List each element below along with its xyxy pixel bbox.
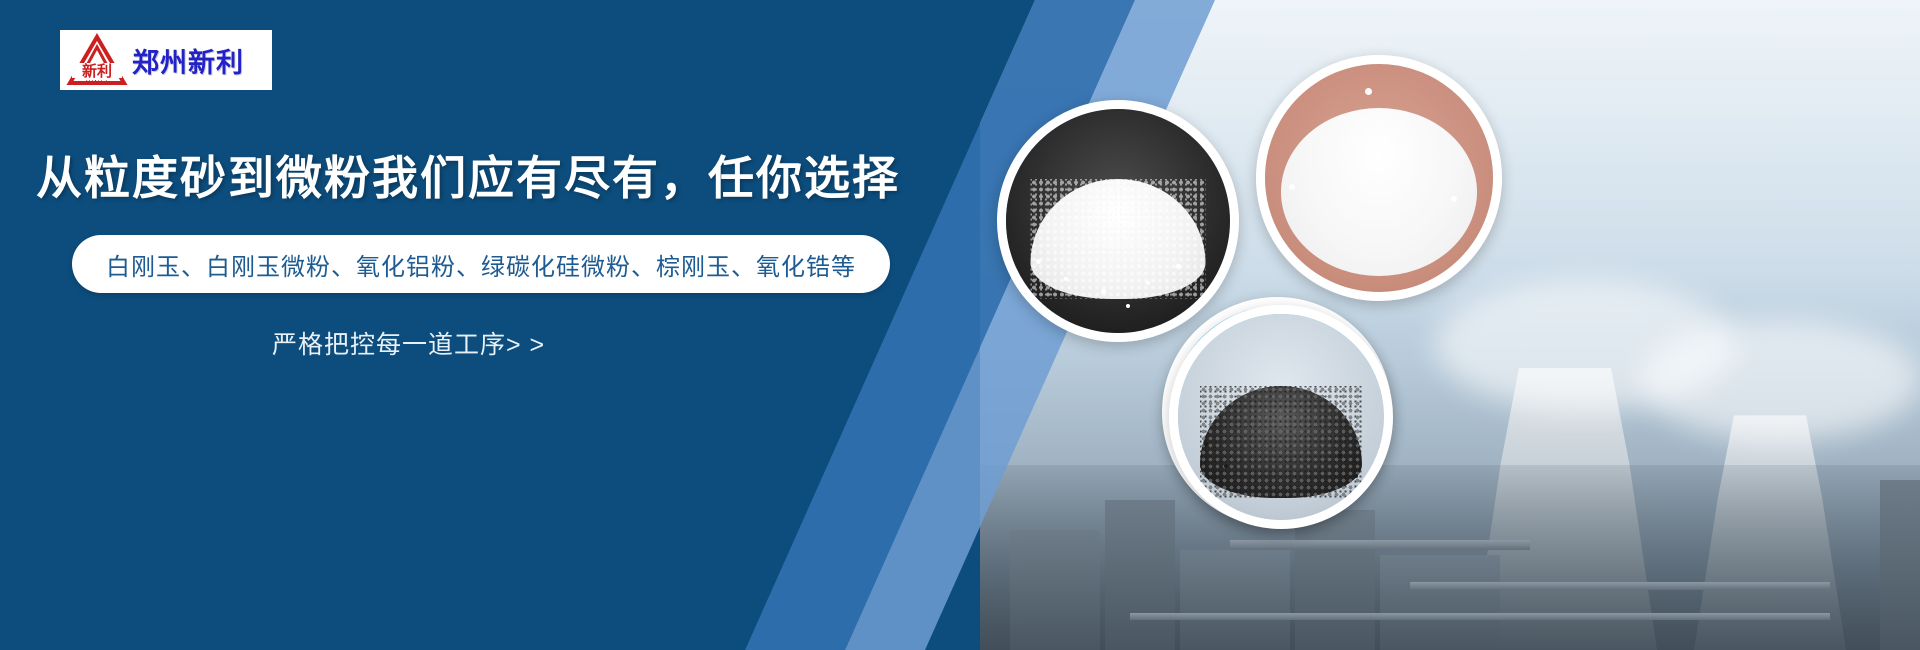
grain-speck (1064, 277, 1068, 281)
grain-speck (1176, 264, 1181, 269)
factory-building (1010, 530, 1100, 650)
grain-speck (1101, 289, 1106, 294)
grain-speck (1224, 464, 1228, 468)
material-pile (1031, 179, 1206, 299)
headline: 从粒度砂到微粉我们应有尽有，任你选择 (36, 142, 900, 208)
svg-text:XINLI: XINLI (86, 80, 109, 87)
grain-texture (1031, 179, 1206, 299)
logo-brand-name: 郑州新利 (132, 41, 244, 80)
grain-speck (1126, 304, 1130, 308)
steam-plume (1640, 320, 1920, 440)
factory-building (1880, 480, 1920, 650)
factory-building (1295, 510, 1375, 650)
product-list-text: 白刚玉、白刚玉微粉、氧化铝粉、绿碳化硅微粉、棕刚玉、氧化锆等 (106, 247, 856, 282)
grain-speck (1354, 474, 1358, 478)
company-logo[interactable]: 新利 XINLI 郑州新利 (60, 30, 272, 90)
material-pile (1281, 108, 1477, 276)
grain-speck (1338, 454, 1342, 458)
product-list-pill[interactable]: 白刚玉、白刚玉微粉、氧化铝粉、绿碳化硅微粉、棕刚玉、氧化锆等 (72, 235, 890, 293)
product-circle-white-alumina-micropowder (1256, 55, 1502, 301)
powder-speck (1289, 184, 1295, 190)
grain-texture (1200, 386, 1362, 498)
factory-building (1105, 500, 1175, 650)
pipeline (1130, 613, 1830, 620)
powder-speck (1451, 196, 1457, 202)
xinli-triangle-icon: 新利 XINLI (66, 33, 128, 87)
promo-banner: 新利 XINLI 郑州新利 从粒度砂到微粉我们应有尽有，任你选择 白刚玉、白刚玉… (0, 0, 1920, 650)
powder-speck (1365, 88, 1372, 95)
grain-speck (1036, 259, 1041, 264)
tagline-link[interactable]: 严格把控每一道工序> > (272, 325, 545, 361)
product-circle-black-silicon-carbide-grit (1169, 305, 1393, 529)
pipeline (1410, 582, 1830, 590)
grain-speck (1204, 442, 1208, 446)
pipeline (1230, 540, 1530, 550)
factory-building (1380, 555, 1500, 650)
factory-building (1180, 550, 1290, 650)
factory-skyline (980, 465, 1920, 650)
grain-speck (1146, 281, 1150, 285)
material-pile (1200, 386, 1362, 498)
svg-text:新利: 新利 (82, 62, 112, 80)
